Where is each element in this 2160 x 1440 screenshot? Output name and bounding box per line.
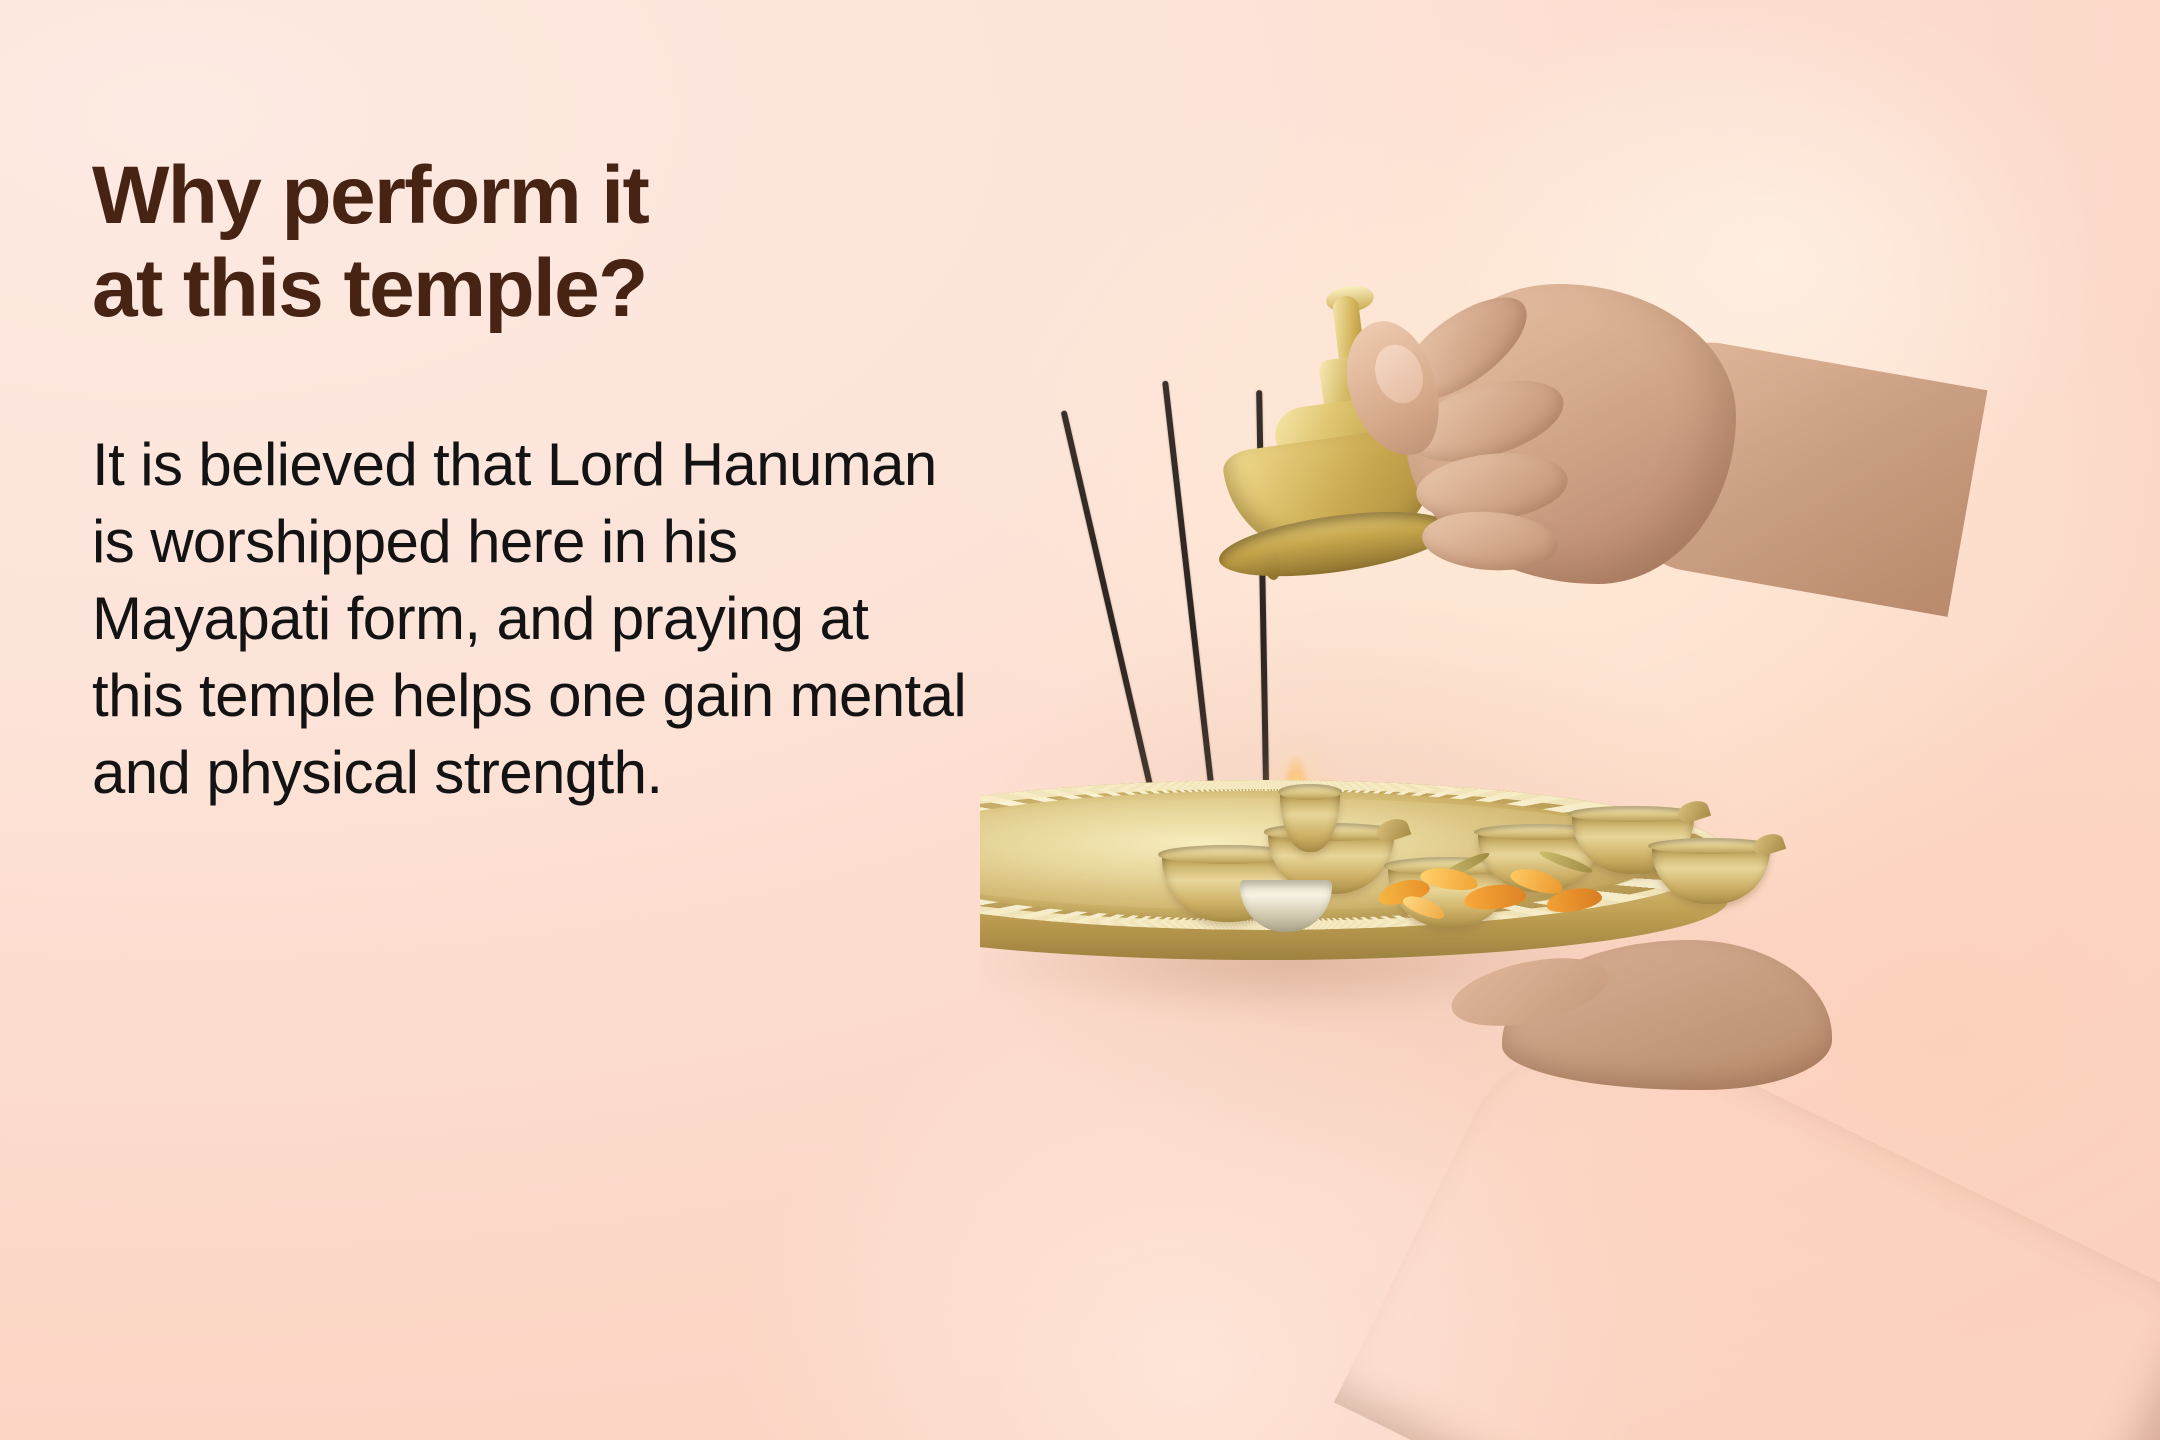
body-paragraph: It is believed that Lord Hanuman is wors… <box>92 427 972 811</box>
puja-photo <box>980 0 2160 1440</box>
marigold-petals <box>1370 855 1630 935</box>
brass-diya <box>1280 788 1340 852</box>
incense-stick-icon <box>1061 410 1161 821</box>
bell-and-hand <box>1210 290 1850 770</box>
marigold-petal <box>1401 891 1448 922</box>
page-title: Why perform it at this temple? <box>92 150 1012 335</box>
text-column: Why perform it at this temple? It is bel… <box>92 150 1012 811</box>
brass-bowl <box>1652 842 1770 904</box>
